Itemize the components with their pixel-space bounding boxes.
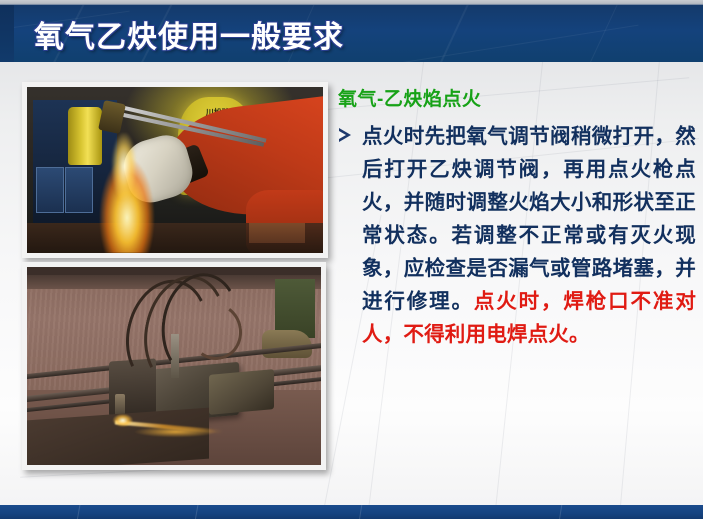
photo-rail-cutting-machine-content	[27, 267, 321, 465]
section-heading: 氧气-乙炔焰点火	[338, 84, 696, 111]
photo-torch-ignition: 川松牌	[22, 82, 328, 258]
page-title: 氧气乙炔使用一般要求	[34, 12, 344, 56]
bottom-bar-line	[357, 505, 364, 519]
title-left-accent-bar	[0, 5, 14, 62]
photo-brick	[249, 223, 305, 243]
bottom-bar-line	[75, 505, 83, 519]
photo-flame-core	[107, 133, 141, 199]
title-decoration-line	[568, 5, 641, 62]
bullet-paragraph: 点火时先把氧气调节阀稍微打开，然后打开乙炔调节阀，再用点火枪点火，并随时调整火焰…	[362, 120, 696, 351]
bottom-bar-line	[193, 505, 201, 519]
bullet-item: 点火时先把氧气调节阀稍微打开，然后打开乙炔调节阀，再用点火枪点火，并随时调整火焰…	[336, 120, 696, 351]
text-content-column: 氧气-乙炔焰点火 点火时先把氧气调节阀稍微打开，然后打开乙炔调节阀，再用点火枪点…	[336, 84, 696, 351]
photo-torch-ignition-content: 川松牌	[27, 87, 323, 253]
slide-canvas: 氧气乙炔使用一般要求 川松牌	[0, 0, 703, 519]
photo-blue-crate	[36, 167, 64, 213]
title-decoration-line	[419, 5, 493, 62]
chevron-right-arrow-bullet-icon	[339, 128, 351, 142]
bottom-bar-line	[557, 505, 564, 519]
bullet-text-normal: 点火时先把氧气调节阀稍微打开，然后打开乙炔调节阀，再用点火枪点火，并随时调整火焰…	[362, 125, 696, 313]
photo-rail-cutting-machine	[22, 262, 326, 470]
title-decoration-line	[382, 25, 639, 62]
photo-worker-leg	[275, 279, 315, 338]
slide-bottom-bar	[0, 505, 703, 519]
photo-cutting-sparks	[106, 412, 226, 442]
photo-machine-control-box	[209, 369, 274, 414]
